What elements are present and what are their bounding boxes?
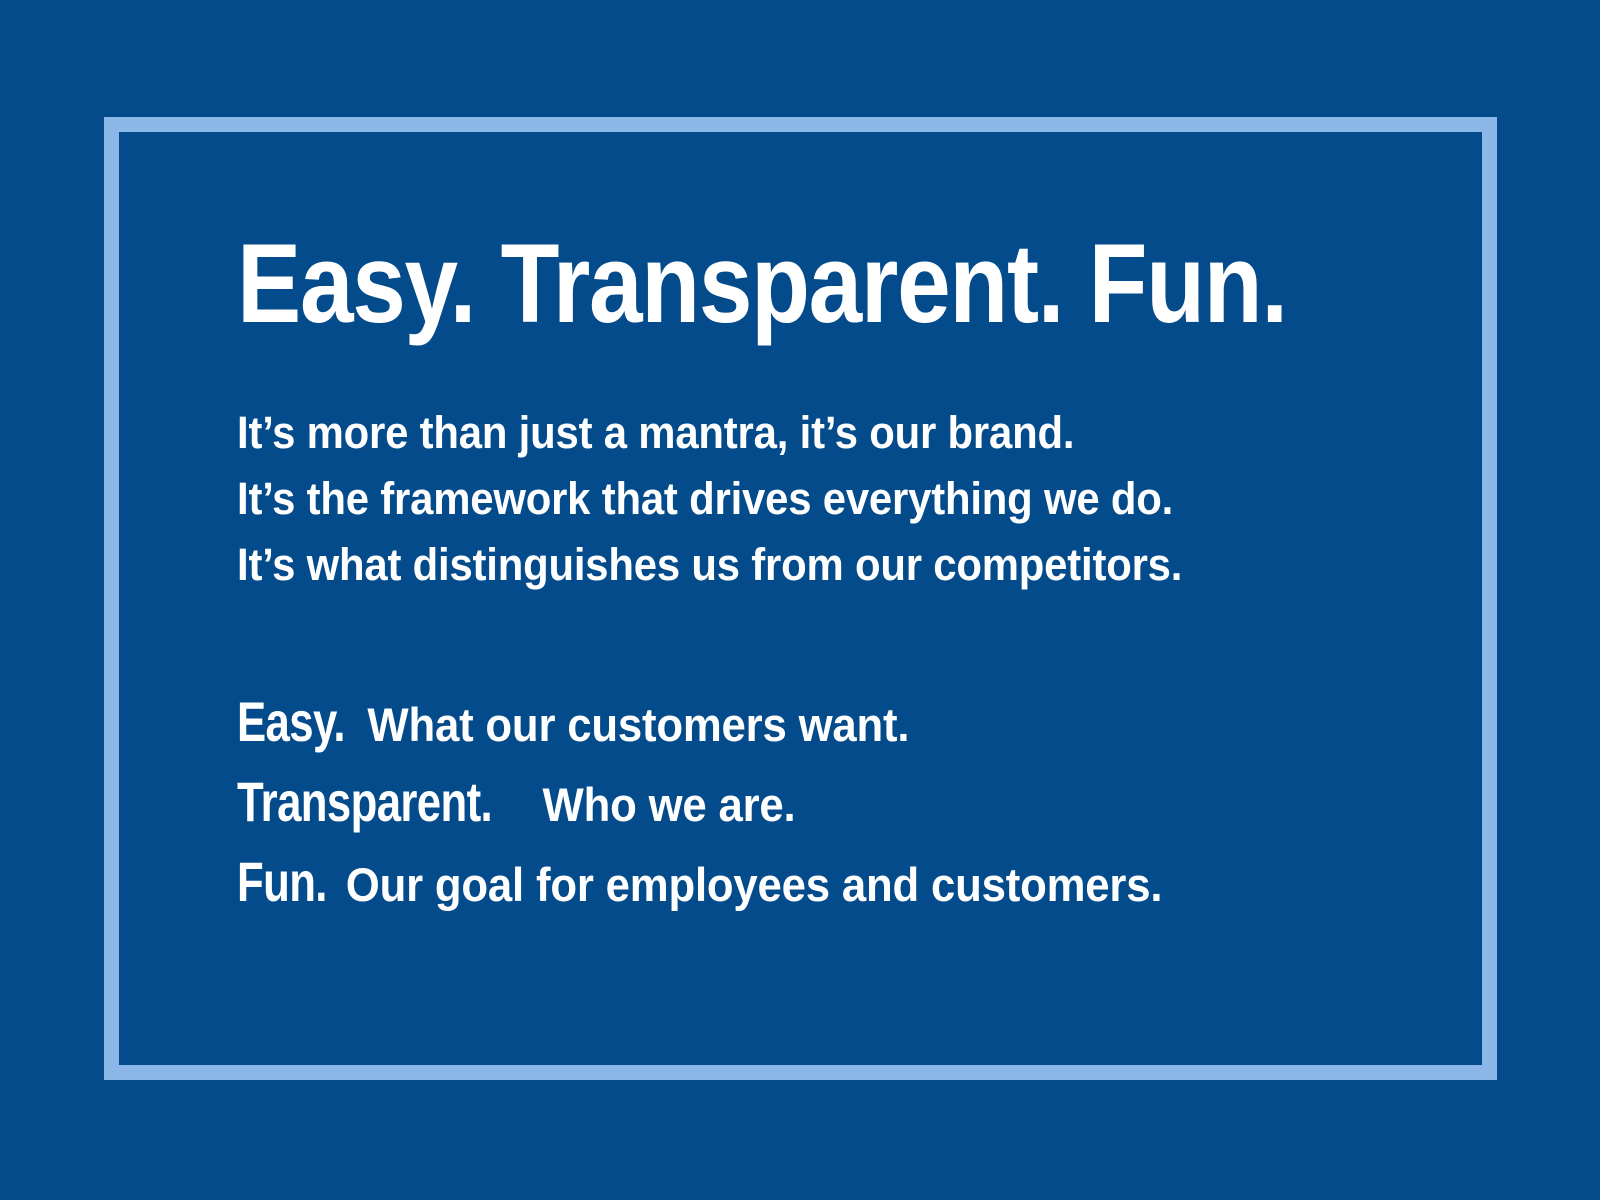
value-term-easy: Easy. (237, 682, 345, 762)
value-description-transparent: Who we are. (541, 778, 796, 831)
value-description-fun: Our goal for employees and customers. (344, 858, 1162, 911)
intro-paragraph-line-1: It’s more than just a mantra, it’s our b… (237, 400, 1182, 466)
values-list: Easy.What our customers want. Transparen… (237, 682, 1162, 922)
value-item-transparent: Transparent.Who we are. (237, 762, 1162, 842)
slide-canvas: Easy. Transparent. Fun. It’s more than j… (0, 0, 1600, 1200)
intro-paragraph: It’s more than just a mantra, it’s our b… (237, 400, 1182, 598)
value-term-fun: Fun. (237, 842, 327, 922)
intro-paragraph-line-2: It’s the framework that drives everythin… (237, 466, 1182, 532)
value-term-transparent: Transparent. (237, 762, 492, 842)
value-item-easy: Easy.What our customers want. (237, 682, 1162, 762)
value-item-fun: Fun.Our goal for employees and customers… (237, 842, 1162, 922)
intro-paragraph-line-3: It’s what distinguishes us from our comp… (237, 532, 1182, 598)
page-title: Easy. Transparent. Fun. (237, 228, 1287, 340)
slide-content: Easy. Transparent. Fun. It’s more than j… (237, 0, 1437, 1200)
value-description-easy: What our customers want. (366, 698, 910, 751)
